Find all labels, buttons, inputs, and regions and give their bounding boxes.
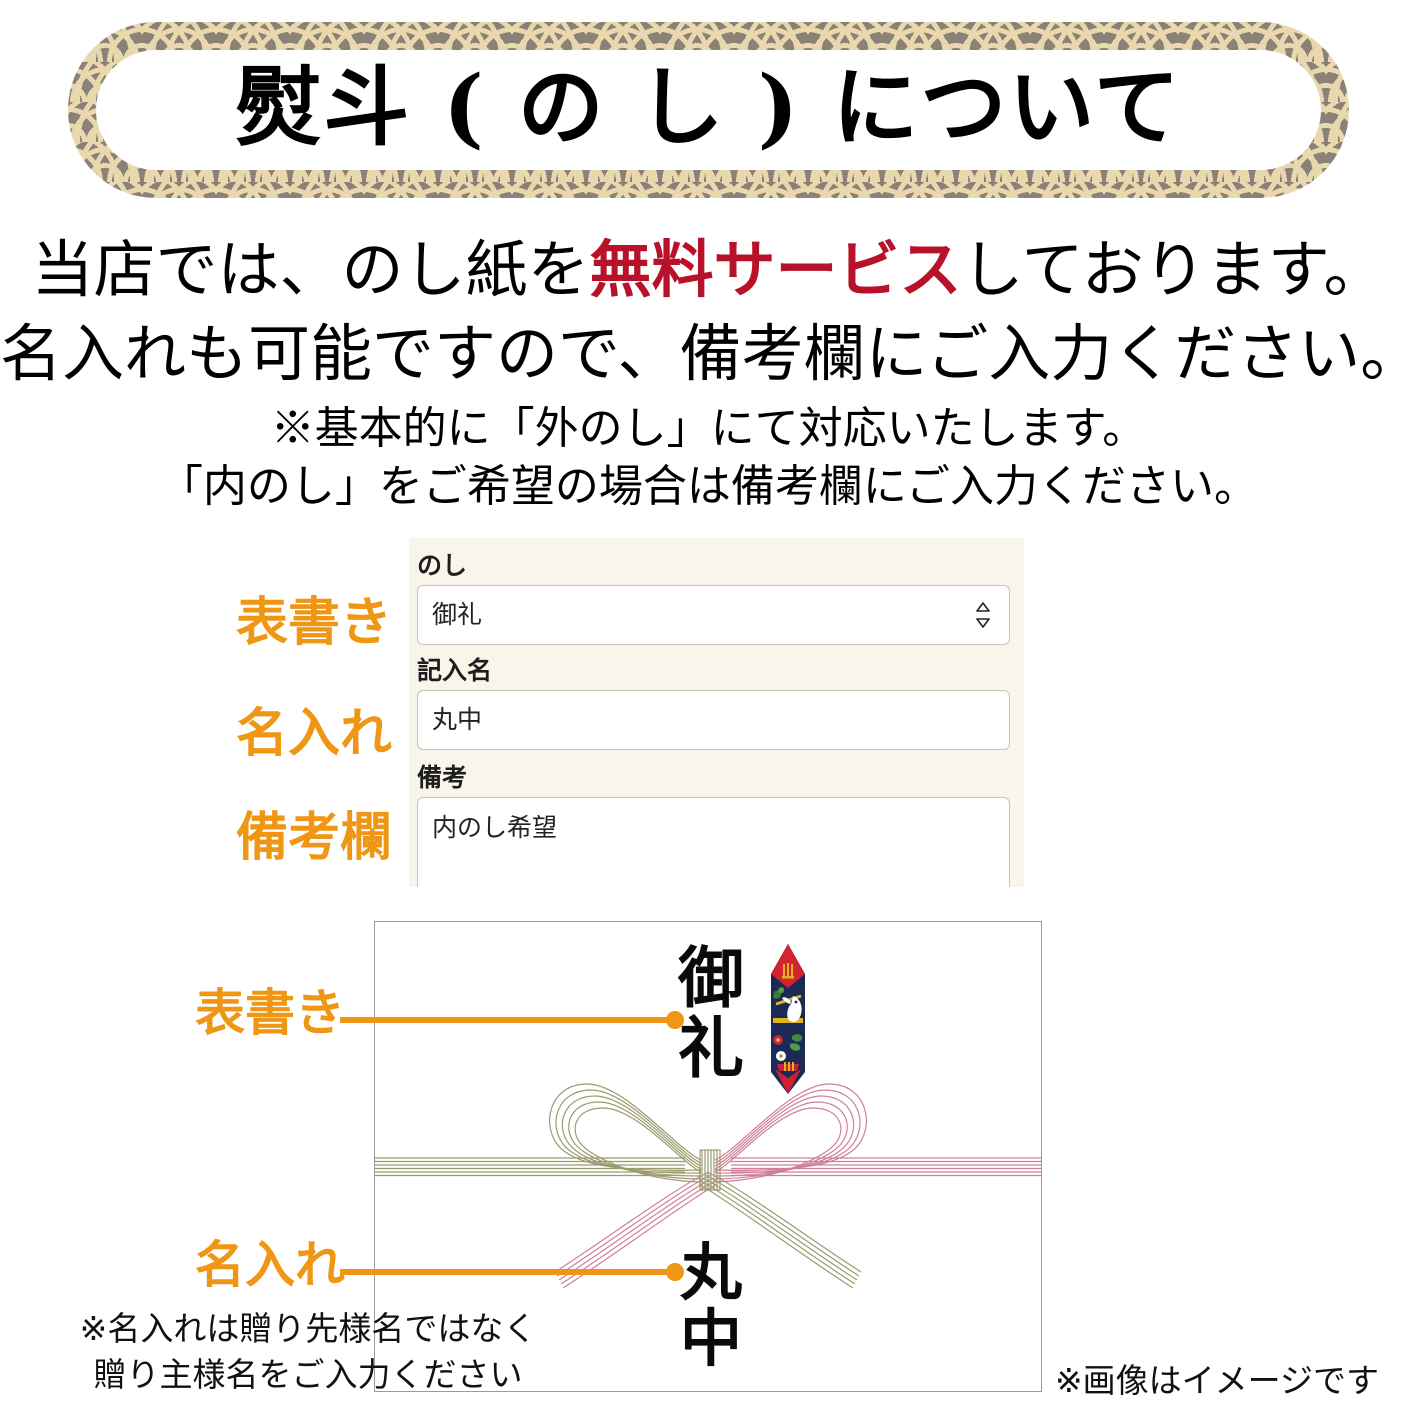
mizuhiki-loop-upper-left — [550, 1084, 701, 1182]
page-title: 熨斗 ( の し ) について — [235, 65, 1182, 151]
name-input-value: 丸中 — [418, 708, 482, 733]
bottom-note-left-line-1: ※名入れは贈り先様名ではなく — [58, 1306, 558, 1352]
noshi-omotegaki-char-1: 御 — [671, 944, 751, 1014]
field-label-name: 記入名 — [417, 659, 1024, 684]
order-form-mockup: のし 御礼 記入名 丸中 備考 内のし希望 — [409, 538, 1024, 887]
header-inner-plate: 熨斗 ( の し ) について — [96, 50, 1321, 170]
lead-paragraph: 当店では、のし紙を無料サービスしております。 名入れも可能ですので、備考欄にご入… — [0, 228, 1417, 396]
noshi-type-selected-value: 御礼 — [418, 603, 482, 628]
callout-label-omotegaki-form: 表書き — [140, 597, 392, 649]
bottom-note-left-line-2: 贈り主様名をご入力ください — [58, 1352, 558, 1398]
remark-textarea[interactable]: 内のし希望 — [417, 797, 1010, 887]
remark-textarea-value: 内のし希望 — [418, 798, 557, 841]
lead-line-1: 当店では、のし紙を無料サービスしております。 — [0, 228, 1417, 312]
lead-text-b: しております。 — [961, 233, 1385, 306]
chevron-up-down-icon — [975, 602, 991, 628]
noshi-omotegaki-text: 御 礼 — [671, 944, 751, 1084]
lead-highlight-free-service: 無料サービス — [589, 233, 961, 306]
callout-label-naire-form: 名入れ — [140, 708, 392, 760]
callout-label-bikou-form: 備考欄 — [140, 812, 392, 864]
noshi-ornament-icon — [771, 944, 805, 1094]
noshi-naire-text: 丸 中 — [671, 1240, 751, 1371]
sub-note: ※基本的に「外のし」にて対応いたします。 「内のし」をご希望の場合は備考欄にご入… — [0, 400, 1417, 516]
field-label-remark: 備考 — [417, 766, 1024, 791]
leader-dot-omotegaki — [666, 1011, 684, 1029]
bottom-note-left: ※名入れは贈り先様名ではなく 贈り主様名をご入力ください — [58, 1306, 558, 1398]
mizuhiki-loop-upper-right — [715, 1084, 866, 1182]
callout-label-omotegaki-noshi: 表書き — [180, 988, 345, 1038]
field-label-noshi: のし — [417, 554, 1024, 579]
noshi-type-select[interactable]: 御礼 — [417, 585, 1010, 645]
name-input[interactable]: 丸中 — [417, 690, 1010, 750]
leader-line-omotegaki — [340, 1017, 675, 1023]
callout-label-naire-noshi: 名入れ — [180, 1240, 345, 1290]
header-banner: 熨斗 ( の し ) について — [68, 22, 1349, 198]
bottom-note-right: ※画像はイメージです — [1055, 1364, 1379, 1397]
leader-line-naire — [340, 1269, 675, 1275]
noshi-omotegaki-char-2: 礼 — [671, 1014, 751, 1084]
lead-text-a: 当店では、のし紙を — [31, 233, 589, 306]
noshi-naire-char-2: 中 — [671, 1306, 751, 1372]
lead-line-2: 名入れも可能ですので、備考欄にご入力ください。 — [0, 312, 1417, 396]
leader-dot-naire — [666, 1263, 684, 1281]
sub-note-line-2: 「内のし」をご希望の場合は備考欄にご入力ください。 — [0, 458, 1417, 516]
sub-note-line-1: ※基本的に「外のし」にて対応いたします。 — [0, 400, 1417, 458]
